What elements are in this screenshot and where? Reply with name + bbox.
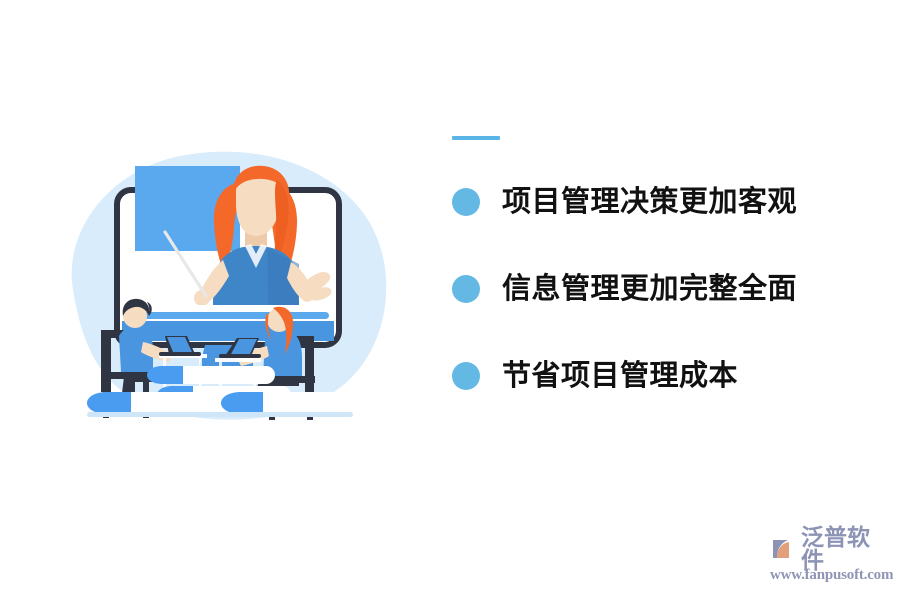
- bullet-dot-icon: [452, 362, 480, 390]
- accent-line: [452, 136, 500, 140]
- list-item: 信息管理更加完整全面: [452, 263, 872, 315]
- benefits-list: 项目管理决策更加客观 信息管理更加完整全面 节省项目管理成本: [452, 176, 872, 402]
- logo-name: 泛普软件: [801, 526, 892, 572]
- list-item: 项目管理决策更加客观: [452, 176, 872, 228]
- bullet-dot-icon: [452, 275, 480, 303]
- fanpu-logo-icon: [770, 534, 800, 564]
- list-item-label: 项目管理决策更加客观: [502, 188, 797, 217]
- logo-url: www.fanpusoft.com: [770, 567, 892, 584]
- logo-top-row: 泛普软件: [770, 532, 892, 566]
- brand-logo: 泛普软件 www.fanpusoft.com: [770, 532, 892, 588]
- list-item: 节省项目管理成本: [452, 350, 872, 402]
- online-classroom-illustration: [55, 140, 395, 430]
- list-item-label: 节省项目管理成本: [502, 362, 738, 391]
- bullet-dot-icon: [452, 188, 480, 216]
- list-item-label: 信息管理更加完整全面: [502, 275, 797, 304]
